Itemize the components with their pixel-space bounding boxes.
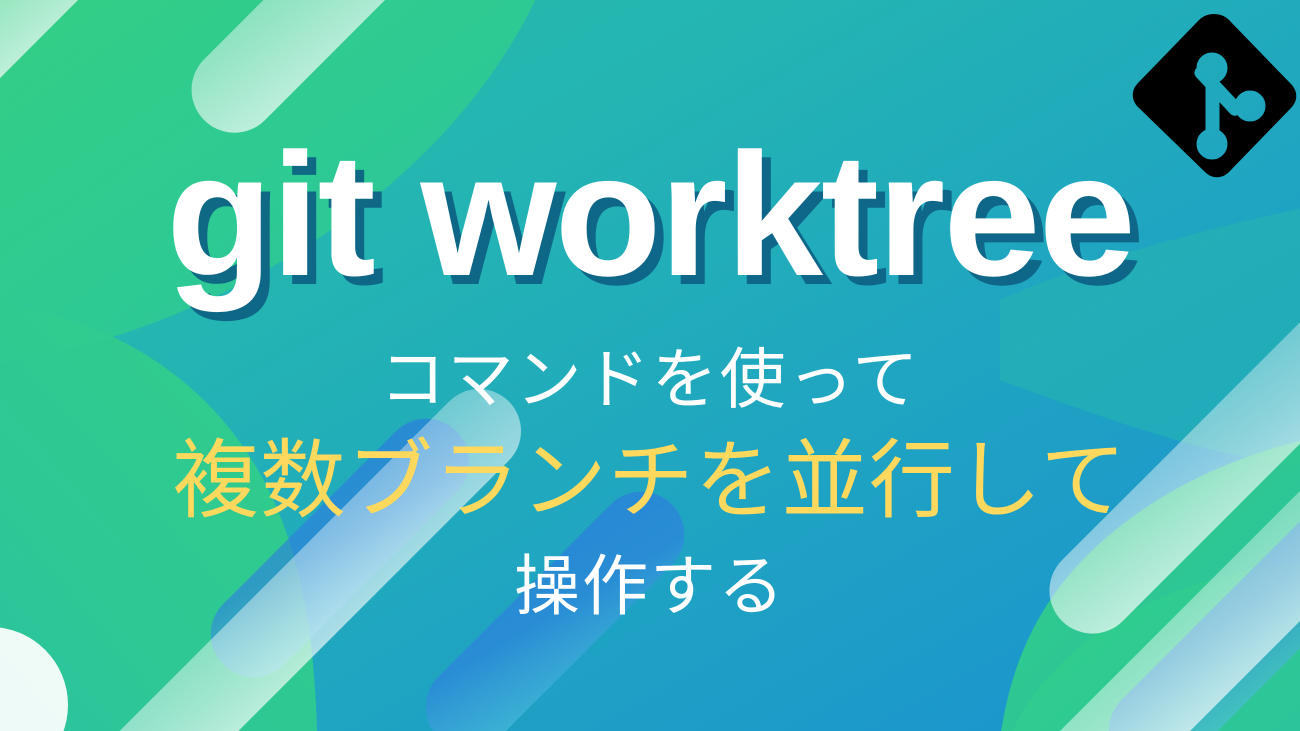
subtitle-line-1: コマンドを使って — [0, 346, 1300, 412]
slide-content: git worktree コマンドを使って 複数ブランチを並行して 操作する — [0, 0, 1300, 731]
subtitle-line-3: 操作する — [0, 553, 1300, 619]
subtitle-line-2-highlight: 複数ブランチを並行して — [0, 438, 1300, 524]
page-title: git worktree — [0, 128, 1300, 303]
slide-canvas: git worktree コマンドを使って 複数ブランチを並行して 操作する — [0, 0, 1300, 731]
